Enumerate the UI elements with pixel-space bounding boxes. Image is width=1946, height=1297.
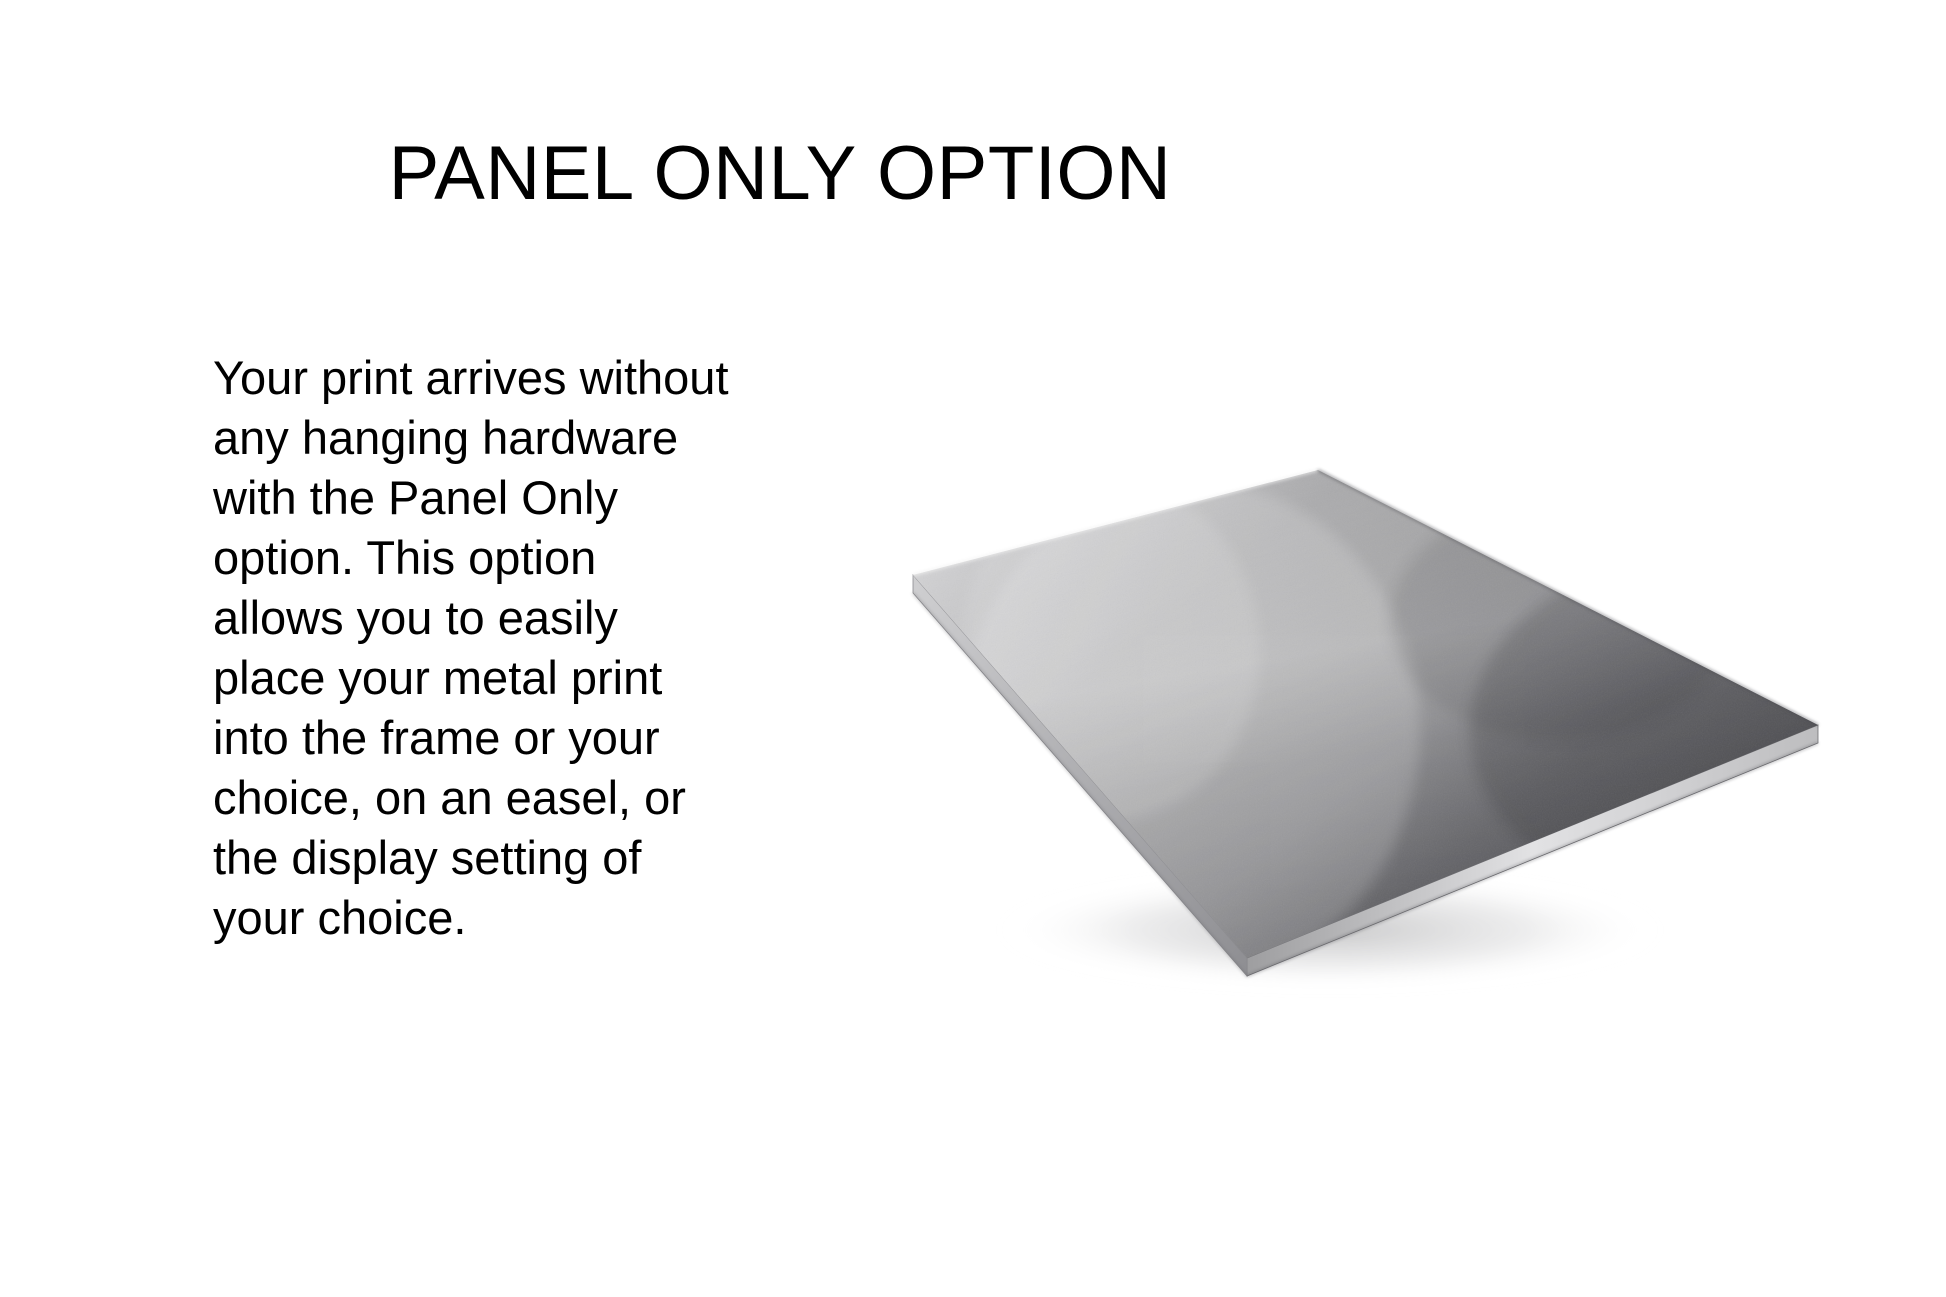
page-title: PANEL ONLY OPTION <box>0 134 1560 214</box>
body-line: into the frame or your <box>213 708 793 768</box>
body-line: allows you to easily <box>213 588 793 648</box>
body-line: with the Panel Only <box>213 468 793 528</box>
body-line: option. This option <box>213 528 793 588</box>
body-line: the display setting of <box>213 828 793 888</box>
body-line: place your metal print <box>213 648 793 708</box>
metal-panel-illustration <box>860 430 1870 1010</box>
body-line: any hanging hardware <box>213 408 793 468</box>
slide-canvas: PANEL ONLY OPTION Your print arrives wit… <box>0 0 1946 1297</box>
body-line: your choice. <box>213 888 793 948</box>
body-paragraph: Your print arrives without any hanging h… <box>213 348 793 948</box>
body-line: choice, on an easel, or <box>213 768 793 828</box>
body-line: Your print arrives without <box>213 348 793 408</box>
metal-panel-photo <box>860 430 1870 1010</box>
